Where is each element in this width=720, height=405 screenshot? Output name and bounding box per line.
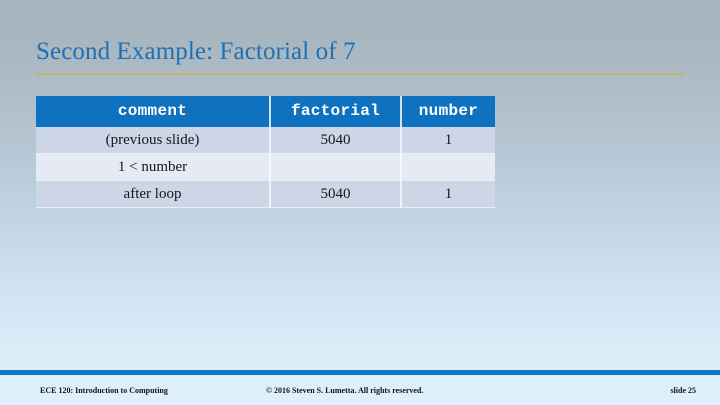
column-header-comment: comment bbox=[36, 96, 270, 127]
cell-comment: after loop bbox=[36, 181, 270, 208]
footer-slide-number: slide 25 bbox=[670, 386, 696, 395]
cell-number bbox=[401, 154, 495, 181]
cell-factorial: 5040 bbox=[270, 181, 401, 208]
slide-canvas: Second Example: Factorial of 7 comment f… bbox=[0, 0, 720, 405]
table-body: (previous slide) 5040 1 1 < number after… bbox=[36, 127, 495, 208]
cell-comment: 1 < number bbox=[36, 154, 270, 181]
cell-number: 1 bbox=[401, 181, 495, 208]
title-divider bbox=[36, 73, 684, 75]
table-row: (previous slide) 5040 1 bbox=[36, 127, 495, 154]
table-row: after loop 5040 1 bbox=[36, 181, 495, 208]
factorial-trace-table: comment factorial number (previous slide… bbox=[36, 96, 495, 208]
cell-comment: (previous slide) bbox=[36, 127, 270, 154]
table-header: comment factorial number bbox=[36, 96, 495, 127]
slide-footer: ECE 120: Introduction to Computing © 201… bbox=[0, 375, 720, 405]
trace-table: comment factorial number (previous slide… bbox=[36, 96, 495, 208]
footer-copyright: © 2016 Steven S. Lumetta. All rights res… bbox=[266, 386, 423, 395]
footer-course-label: ECE 120: Introduction to Computing bbox=[40, 386, 168, 395]
column-header-number: number bbox=[401, 96, 495, 127]
page-title: Second Example: Factorial of 7 bbox=[36, 37, 356, 67]
cell-factorial: 5040 bbox=[270, 127, 401, 154]
cell-factorial bbox=[270, 154, 401, 181]
cell-number: 1 bbox=[401, 127, 495, 154]
table-row: 1 < number bbox=[36, 154, 495, 181]
column-header-factorial: factorial bbox=[270, 96, 401, 127]
table-header-row: comment factorial number bbox=[36, 96, 495, 127]
